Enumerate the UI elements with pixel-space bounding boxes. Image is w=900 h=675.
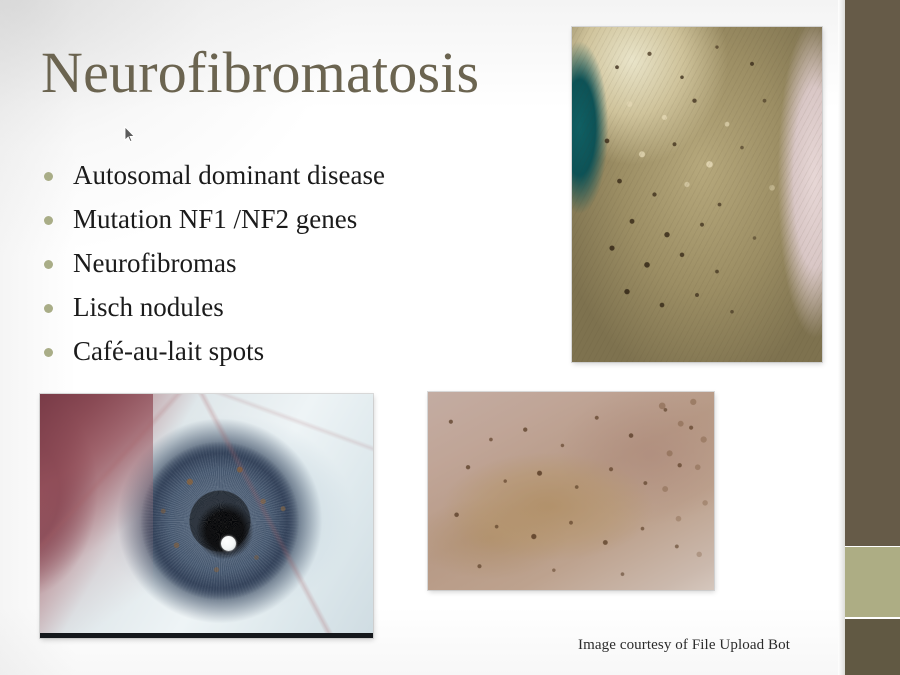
mouse-cursor-icon — [124, 126, 136, 143]
lisch-photo-catchlight — [221, 536, 236, 551]
sidebar-separator — [838, 0, 845, 675]
cafe-au-lait-photo — [428, 392, 714, 590]
bullet-dot-icon — [44, 216, 53, 225]
list-item-label: Autosomal dominant disease — [73, 158, 385, 192]
sidebar-bar-bottom — [845, 619, 900, 675]
bullet-dot-icon — [44, 260, 53, 269]
bullet-dot-icon — [44, 348, 53, 357]
lisch-photo-edge-strip — [40, 633, 373, 638]
bullet-list: Autosomal dominant disease Mutation NF1 … — [44, 158, 514, 378]
lisch-nodules-photo — [40, 394, 373, 638]
sidebar-bar-accent — [845, 547, 900, 617]
bullet-dot-icon — [44, 172, 53, 181]
image-credit-caption: Image courtesy of File Upload Bot — [578, 637, 790, 654]
sidebar-bar-top — [845, 0, 900, 546]
list-item-label: Lisch nodules — [73, 290, 224, 324]
presentation-slide: Neurofibromatosis Autosomal dominant dis… — [0, 0, 900, 675]
list-item[interactable]: Mutation NF1 /NF2 genes — [44, 202, 514, 246]
list-item[interactable]: Neurofibromas — [44, 246, 514, 290]
neurofibromas-photo — [572, 27, 822, 362]
list-item[interactable]: Autosomal dominant disease — [44, 158, 514, 202]
bullet-dot-icon — [44, 304, 53, 313]
cafe-au-lait-photo-papules — [640, 392, 714, 590]
page-title: Neurofibromatosis — [41, 38, 479, 108]
list-item-label: Neurofibromas — [73, 246, 236, 280]
neurofibromas-photo-texture — [572, 27, 822, 362]
list-item[interactable]: Lisch nodules — [44, 290, 514, 334]
list-item[interactable]: Café-au-lait spots — [44, 334, 514, 378]
decorative-sidebar — [845, 0, 900, 675]
list-item-label: Café-au-lait spots — [73, 334, 264, 368]
list-item-label: Mutation NF1 /NF2 genes — [73, 202, 357, 236]
lisch-photo-nodules — [40, 394, 373, 638]
